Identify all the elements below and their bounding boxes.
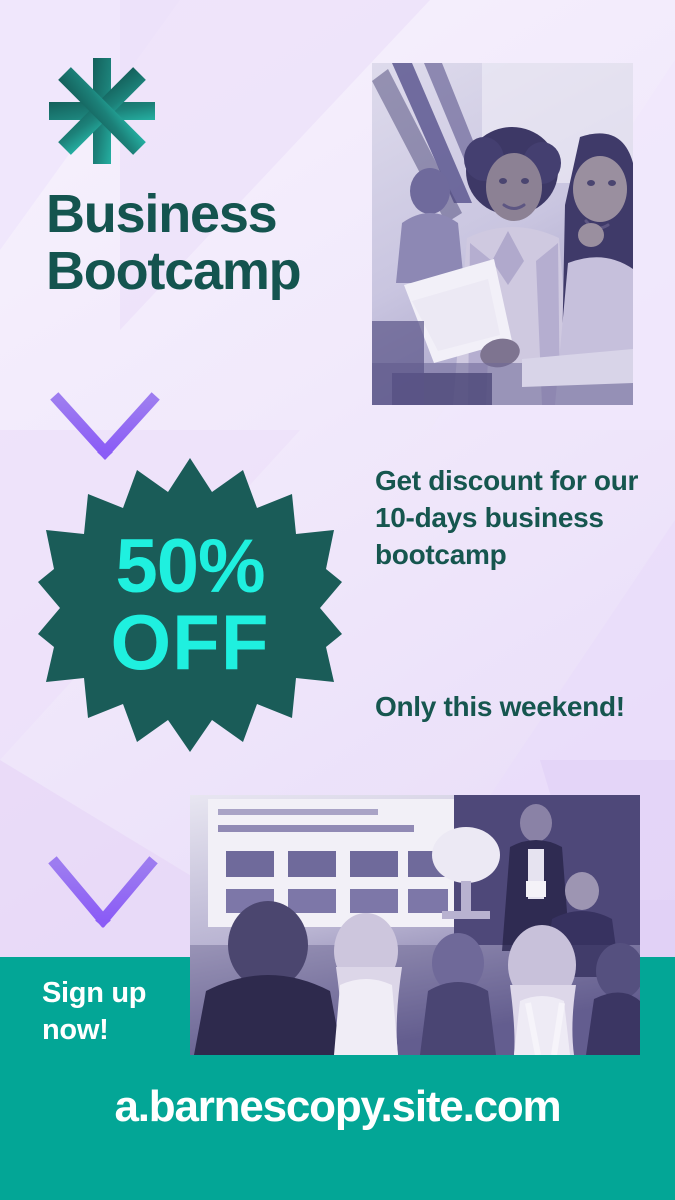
down-arrow-icon: [50, 340, 172, 462]
starburst-shape: [38, 456, 342, 754]
headline-line-1: Business: [46, 184, 277, 244]
bottom-photo-illustration: [190, 795, 640, 1055]
offer-description: Get discount for our 10-days business bo…: [375, 462, 643, 574]
offer-urgency: Only this weekend!: [375, 688, 643, 725]
website-url[interactable]: a.barnescopy.site.com: [0, 1082, 675, 1132]
headline-line-2: Bootcamp: [46, 243, 376, 300]
bottom-photo: [190, 795, 640, 1055]
promo-poster: Business Bootcamp: [0, 0, 675, 1200]
discount-badge: 50% OFF: [38, 456, 342, 754]
down-arrow-icon: [48, 798, 170, 930]
page-title: Business Bootcamp: [46, 186, 376, 300]
asterisk-logo: [48, 56, 156, 166]
asterisk-icon: [48, 56, 156, 166]
down-arrow-1: [50, 340, 172, 462]
top-photo-illustration: [372, 63, 633, 405]
down-arrow-2: [48, 798, 170, 930]
top-photo: [372, 63, 633, 405]
signup-cta: Sign up now!: [42, 975, 192, 1049]
